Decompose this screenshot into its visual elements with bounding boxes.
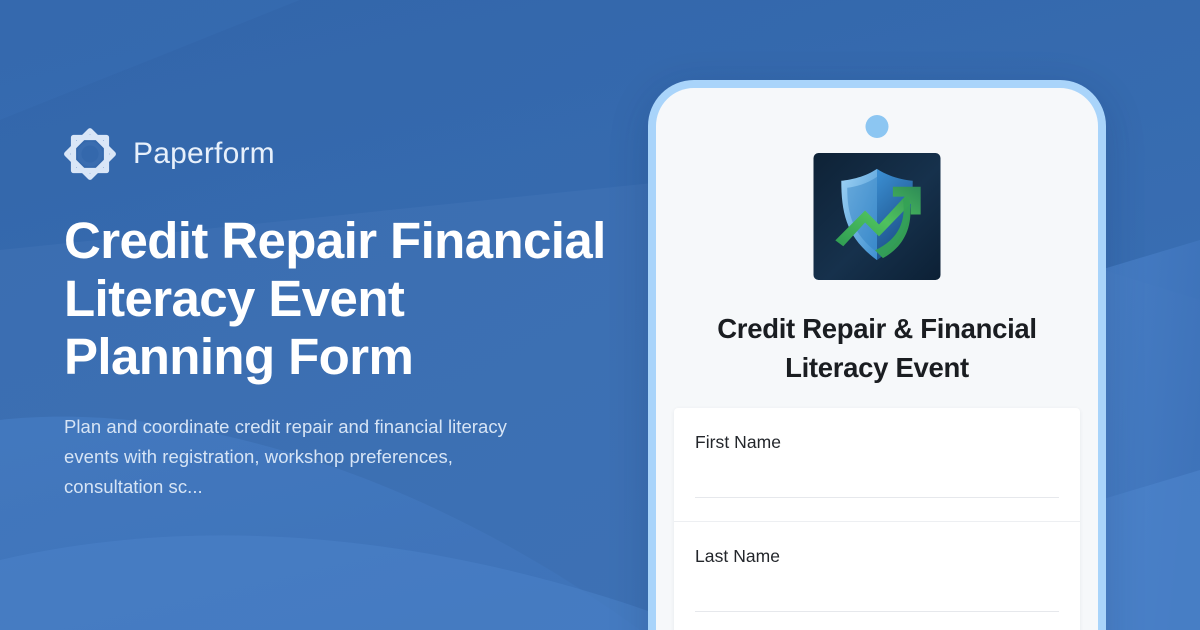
form-card: First Name Last Name	[674, 408, 1080, 630]
share-preview-card: Paperform Credit Repair Financial Litera…	[0, 0, 1200, 630]
first-name-label: First Name	[695, 432, 1059, 453]
form-field-first-name[interactable]: First Name	[674, 408, 1080, 521]
page-description: Plan and coordinate credit repair and fi…	[64, 412, 534, 502]
camera-dot-icon	[866, 115, 889, 138]
form-field-last-name[interactable]: Last Name	[674, 521, 1080, 630]
last-name-input[interactable]	[695, 611, 1059, 612]
paperform-logo-icon	[64, 128, 116, 180]
last-name-label: Last Name	[695, 546, 1059, 567]
brand-name: Paperform	[133, 139, 275, 169]
page-title: Credit Repair Financial Literacy Event P…	[64, 212, 624, 386]
form-heading: Credit Repair & Financial Literacy Event	[656, 310, 1098, 387]
brand-lockup: Paperform	[64, 128, 624, 180]
shield-growth-arrow-icon	[814, 153, 941, 280]
hero-content: Paperform Credit Repair Financial Litera…	[64, 0, 624, 630]
first-name-input[interactable]	[695, 497, 1059, 498]
phone-mockup: Credit Repair & Financial Literacy Event…	[648, 80, 1106, 630]
